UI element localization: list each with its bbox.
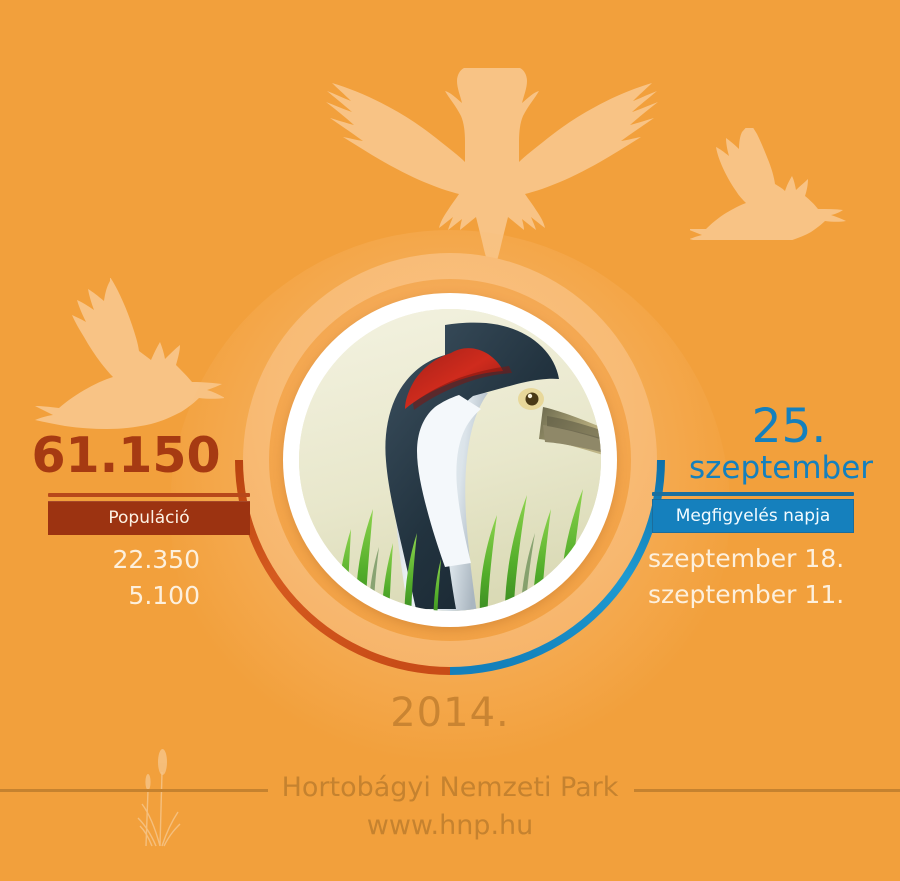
crane-wings-spread-silhouette (268, 62, 660, 262)
population-sub-value: 5.100 (0, 580, 258, 612)
population-rule (48, 493, 250, 497)
park-name: Hortobágyi Nemzeti Park (0, 772, 900, 803)
population-total: 61.150 (0, 430, 258, 481)
population-label-badge: Populáció (48, 501, 250, 535)
population-stat-block: 61.150 Populáció 22.350 5.100 (0, 430, 258, 612)
infographic-canvas: 61.150 Populáció 22.350 5.100 25. szepte… (0, 0, 900, 881)
park-url[interactable]: www.hnp.hu (0, 810, 900, 841)
observation-day: 25. (642, 404, 900, 450)
population-sub-value: 22.350 (0, 544, 258, 576)
crane-photo-art (299, 309, 601, 611)
crane-flying-silhouette (32, 278, 224, 430)
observation-sub-value: szeptember 18. (642, 543, 900, 575)
observation-month: szeptember (642, 453, 900, 484)
crane-photo (299, 309, 601, 611)
observation-sub-value: szeptember 11. (642, 579, 900, 611)
observation-stat-block: 25. szeptember Megfigyelés napja szeptem… (642, 404, 900, 611)
observation-label-text: Megfigyelés napja (676, 506, 831, 526)
year-label: 2014. (0, 690, 900, 736)
population-label-text: Populáció (108, 508, 189, 528)
observation-rule (652, 492, 854, 496)
observation-label-badge: Megfigyelés napja (652, 499, 854, 533)
crane-medallion (243, 253, 657, 667)
crane-flying-silhouette (690, 128, 858, 240)
